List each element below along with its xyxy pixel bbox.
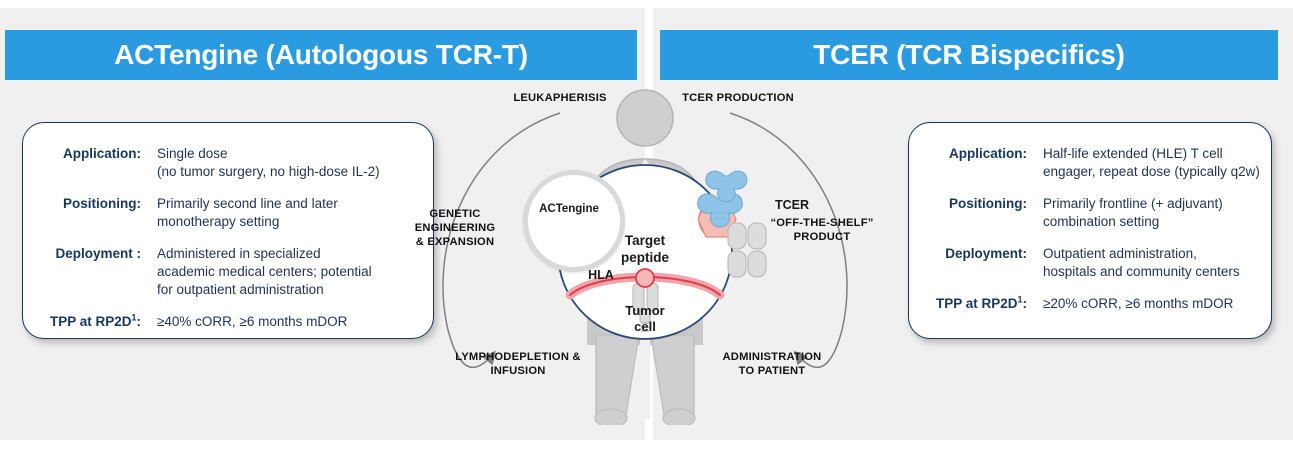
row-value-line1: Administered in specialized xyxy=(157,245,372,263)
row-value: Administered in specialized academic med… xyxy=(157,245,372,299)
row-value-line2: engager, repeat dose (typically q2w) xyxy=(1043,163,1260,181)
row-label: Application: xyxy=(23,145,141,181)
step-administration: ADMINISTRATION TO PATIENT xyxy=(692,350,852,378)
row-value-line3: for outpatient administration xyxy=(157,281,372,299)
row-value-line1: ≥20% cORR, ≥6 months mDOR xyxy=(1043,295,1233,313)
row-value-line2: combination setting xyxy=(1043,213,1223,231)
row-label-tail: : xyxy=(137,314,142,329)
row-tpp: TPP at RP2D1: ≥40% cORR, ≥6 months mDOR xyxy=(23,313,433,331)
row-value-line2: hospitals and community centers xyxy=(1043,263,1240,281)
left-header-title: ACTengine (Autologous TCR-T) xyxy=(114,39,528,71)
row-label: Positioning: xyxy=(909,195,1027,231)
row-positioning: Positioning: Primarily second line and l… xyxy=(23,195,433,231)
tumor-cell-label: Tumor cell xyxy=(605,303,685,335)
row-value-line1: Outpatient administration, xyxy=(1043,245,1240,263)
tcer-label: TCER xyxy=(765,198,819,212)
row-value: Primarily frontline (+ adjuvant) combina… xyxy=(1043,195,1223,231)
actengine-label: ACTengine xyxy=(527,203,611,215)
row-application: Application: Half-life extended (HLE) T … xyxy=(909,145,1271,181)
row-label: TPP at RP2D1: xyxy=(909,295,1027,313)
row-application: Application: Single dose (no tumor surge… xyxy=(23,145,433,181)
row-value-line1: Primarily frontline (+ adjuvant) xyxy=(1043,195,1223,213)
row-value: ≥20% cORR, ≥6 months mDOR xyxy=(1043,295,1233,313)
left-header-bar: ACTengine (Autologous TCR-T) xyxy=(5,30,637,80)
tcer-rows: Application: Half-life extended (HLE) T … xyxy=(909,123,1271,338)
slide-canvas: ACTengine (Autologous TCR-T) TCER (TCR B… xyxy=(0,0,1293,454)
step-off-the-shelf: “OFF-THE-SHELF” PRODUCT xyxy=(752,216,892,244)
row-deployment: Deployment: Outpatient administration, h… xyxy=(909,245,1271,281)
row-value: Primarily second line and later monother… xyxy=(157,195,338,231)
row-value-line2: academic medical centers; potential xyxy=(157,263,372,281)
target-peptide-label: Target peptide xyxy=(595,232,695,266)
row-label-text: TPP at RP2D xyxy=(936,296,1018,311)
row-value: ≥40% cORR, ≥6 months mDOR xyxy=(157,313,347,331)
step-genetic-engineering: GENETIC ENGINEERING & EXPANSION xyxy=(390,207,520,249)
tcer-info-card: Application: Half-life extended (HLE) T … xyxy=(908,122,1272,339)
row-label: Application: xyxy=(909,145,1027,181)
row-label-text: TPP at RP2D xyxy=(50,314,132,329)
row-value-line1: ≥40% cORR, ≥6 months mDOR xyxy=(157,313,347,331)
row-label: TPP at RP2D1: xyxy=(23,313,141,331)
row-value-line2: monotherapy setting xyxy=(157,213,338,231)
row-value-line1: Half-life extended (HLE) T cell xyxy=(1043,145,1260,163)
row-label: Deployment: xyxy=(909,245,1027,281)
hla-label: HLA xyxy=(578,268,624,282)
actengine-rows: Application: Single dose (no tumor surge… xyxy=(23,123,433,338)
row-value-line2: (no tumor surgery, no high-dose IL-2) xyxy=(157,163,380,181)
row-tpp: TPP at RP2D1: ≥20% cORR, ≥6 months mDOR xyxy=(909,295,1271,313)
step-tcer-production: TCER PRODUCTION xyxy=(648,91,828,105)
step-leukapheresis: LEUKAPHERISIS xyxy=(475,91,645,105)
row-value-line1: Primarily second line and later xyxy=(157,195,338,213)
row-value: Single dose (no tumor surgery, no high-d… xyxy=(157,145,380,181)
actengine-info-card: Application: Single dose (no tumor surge… xyxy=(22,122,434,339)
row-label: Deployment : xyxy=(23,245,141,299)
row-value: Half-life extended (HLE) T cell engager,… xyxy=(1043,145,1260,181)
row-label: Positioning: xyxy=(23,195,141,231)
row-value: Outpatient administration, hospitals and… xyxy=(1043,245,1240,281)
row-label-tail: : xyxy=(1023,296,1028,311)
step-lymphodepletion: LYMPHODEPLETION & INFUSION xyxy=(428,350,608,378)
row-value-line1: Single dose xyxy=(157,145,380,163)
mechanism-diagram: ACTengine Target peptide HLA Tumor cell … xyxy=(390,85,900,425)
row-positioning: Positioning: Primarily frontline (+ adju… xyxy=(909,195,1271,231)
right-header-title: TCER (TCR Bispecifics) xyxy=(813,39,1124,71)
row-deployment: Deployment : Administered in specialized… xyxy=(23,245,433,299)
right-header-bar: TCER (TCR Bispecifics) xyxy=(660,30,1278,80)
